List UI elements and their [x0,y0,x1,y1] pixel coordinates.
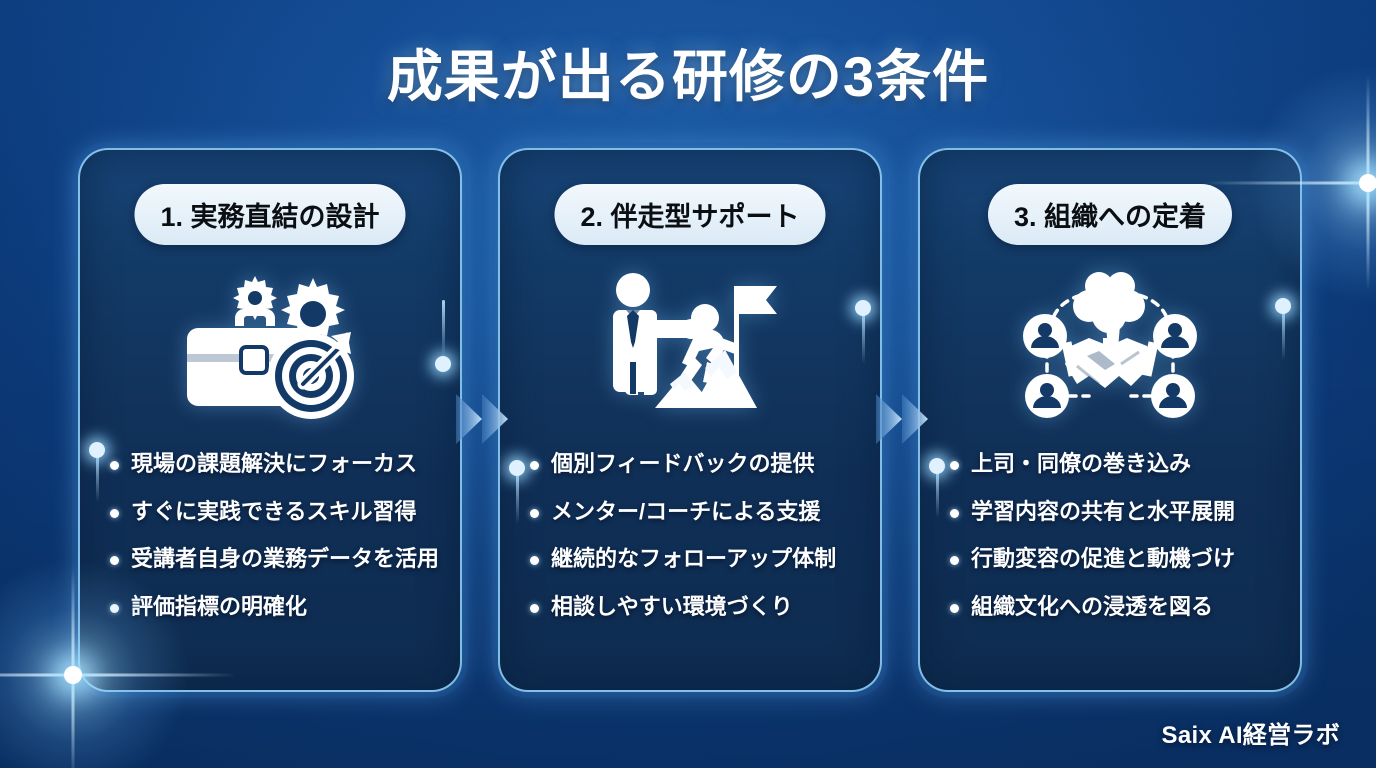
list-item: 学習内容の共有と水平展開 [944,498,1282,526]
bullet-dot-icon [110,556,119,565]
double-chevron-1-to-2-icon [452,388,516,450]
list-item-label: 行動変容の促進と動機づけ [971,545,1235,573]
list-item: 現場の課題解決にフォーカス [104,450,442,478]
card-2-header: 2. 伴走型サポート [554,184,825,245]
page-title: 成果が出る研修の3条件 [0,32,1376,113]
bullet-dot-icon [950,509,959,518]
bullet-dot-icon [530,509,539,518]
card-3-bullet-list: 上司・同僚の巻き込み 学習内容の共有と水平展開 行動変容の促進と動機づけ 組織文… [944,450,1282,640]
bullet-dot-icon [110,461,119,470]
list-item: メンター/コーチによる支援 [524,498,862,526]
double-chevron-2-to-3-icon [872,388,936,450]
list-item: 継続的なフォローアップ体制 [524,545,862,573]
node-line [442,300,445,358]
bullet-dot-icon [530,461,539,470]
list-item: 評価指標の明確化 [104,593,442,621]
brand-footer: Saix AI経営ラボ [1162,715,1340,750]
card-3-header: 3. 組織への定着 [988,184,1232,245]
node-line [862,308,865,364]
node-line [1282,306,1285,360]
edge-node [435,356,451,372]
list-item-label: 個別フィードバックの提供 [551,450,815,478]
bullet-dot-icon [530,556,539,565]
edge-node [89,442,105,458]
bullet-dot-icon [110,509,119,518]
list-item: 組織文化への浸透を図る [944,593,1282,621]
mentor-mountain-flag-icon [595,260,785,430]
list-item-label: 受講者自身の業務データを活用 [131,545,439,573]
handshake-tree-network-icon [1015,260,1205,430]
list-item: 上司・同僚の巻き込み [944,450,1282,478]
list-item: 受講者自身の業務データを活用 [104,545,442,573]
bullet-dot-icon [950,604,959,613]
list-item-label: 学習内容の共有と水平展開 [971,498,1235,526]
bullet-dot-icon [530,604,539,613]
briefcase-gears-target-icon [175,260,365,430]
card-1-header: 1. 実務直結の設計 [134,184,405,245]
list-item-label: 相談しやすい環境づくり [551,593,793,621]
list-item-label: 組織文化への浸透を図る [971,593,1213,621]
edge-node [855,300,871,316]
list-item-label: 上司・同僚の巻き込み [971,450,1191,478]
list-item-label: 現場の課題解決にフォーカス [131,450,417,478]
card-2[interactable]: 2. 伴走型サポート [498,148,882,692]
list-item-label: メンター/コーチによる支援 [551,498,820,526]
list-item-label: 継続的なフォローアップ体制 [551,545,836,573]
list-item: 行動変容の促進と動機づけ [944,545,1282,573]
list-item: すぐに実践できるスキル習得 [104,498,442,526]
bullet-dot-icon [110,604,119,613]
edge-node [509,460,525,476]
list-item: 個別フィードバックの提供 [524,450,862,478]
list-item-label: 評価指標の明確化 [131,593,307,621]
bullet-dot-icon [950,461,959,470]
card-1[interactable]: 1. 実務直結の設計 [78,148,462,692]
edge-node [929,458,945,474]
card-1-bullet-list: 現場の課題解決にフォーカス すぐに実践できるスキル習得 受講者自身の業務データを… [104,450,442,640]
bullet-dot-icon [950,556,959,565]
node-line [516,468,519,524]
card-2-bullet-list: 個別フィードバックの提供 メンター/コーチによる支援 継続的なフォローアップ体制… [524,450,862,640]
infographic-slide: 成果が出る研修の3条件 1. 実務直結の設計 [0,0,1376,768]
card-3[interactable]: 3. 組織への定着 [918,148,1302,692]
edge-node [1275,298,1291,314]
list-item: 相談しやすい環境づくり [524,593,862,621]
list-item-label: すぐに実践できるスキル習得 [131,498,417,526]
